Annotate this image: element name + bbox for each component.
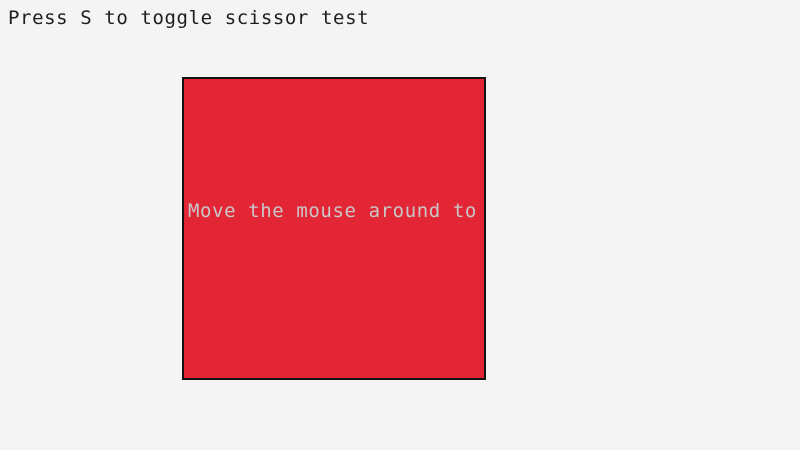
clipped-message-text: Move the mouse around to r bbox=[188, 200, 484, 222]
scissor-clip-surface: Move the mouse around to r bbox=[184, 79, 484, 378]
scissor-test-region[interactable]: Move the mouse around to r bbox=[182, 77, 486, 380]
demo-window: Press S to toggle scissor test Move the … bbox=[0, 0, 800, 450]
scissor-toggle-hint: Press S to toggle scissor test bbox=[8, 7, 369, 29]
